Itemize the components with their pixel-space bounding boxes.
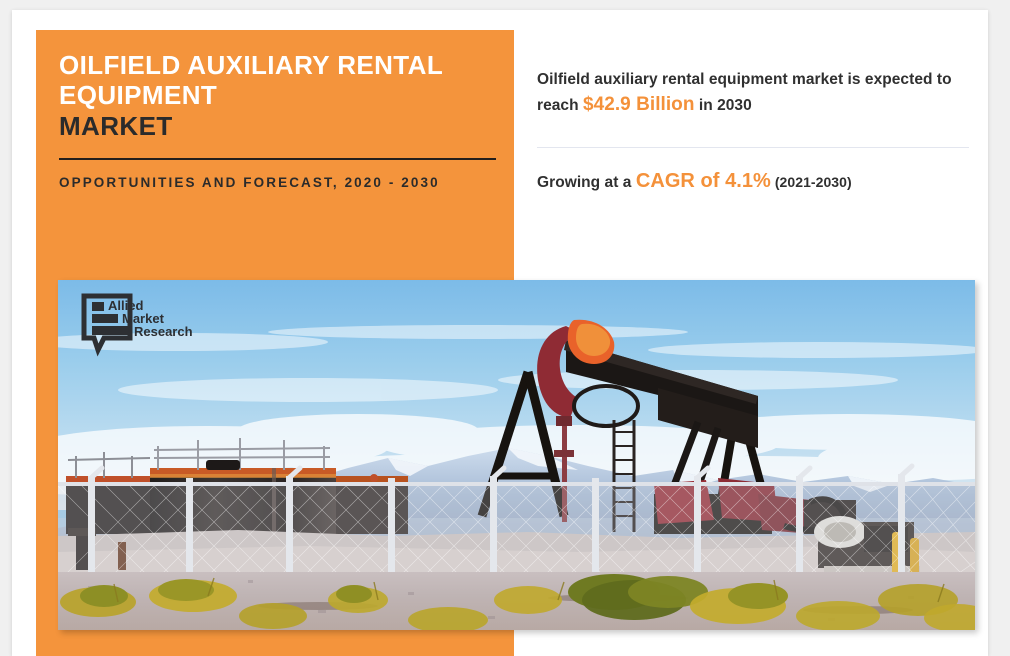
market-value: $42.9 Billion <box>583 94 695 115</box>
subtitle: OPPORTUNITIES AND FORECAST, 2020 - 2030 <box>59 173 509 193</box>
cagr-years: (2021-2030) <box>771 174 852 190</box>
poster-canvas: OILFIELD AUXILIARY RENTAL EQUIPMENT MARK… <box>0 0 1010 646</box>
headline-text: Oilfield auxiliary rental equipment mark… <box>537 68 977 120</box>
logo-line-3: Research <box>134 324 193 339</box>
cagr-prefix: Growing at a <box>537 174 636 191</box>
market-size-statement: Oilfield auxiliary rental equipment mark… <box>537 68 977 120</box>
oilfield-photo: Allied Market Research <box>58 280 975 630</box>
page-title: OILFIELD AUXILIARY RENTAL EQUIPMENT MARK… <box>59 50 504 141</box>
title-divider <box>59 158 496 160</box>
cagr-statement: Growing at a CAGR of 4.1% (2021-2030) <box>537 170 977 193</box>
stats-divider <box>537 147 969 148</box>
title-line-3: MARKET <box>59 111 504 141</box>
photo-illustration: Allied Market Research <box>58 280 975 630</box>
headline-suffix: in 2030 <box>695 97 752 114</box>
title-line-2: EQUIPMENT <box>59 80 504 110</box>
title-line-1: OILFIELD AUXILIARY RENTAL <box>59 50 504 80</box>
chain-link-fence <box>58 466 975 582</box>
poster-card: OILFIELD AUXILIARY RENTAL EQUIPMENT MARK… <box>12 10 988 656</box>
cagr-value: CAGR of 4.1% <box>636 170 771 192</box>
